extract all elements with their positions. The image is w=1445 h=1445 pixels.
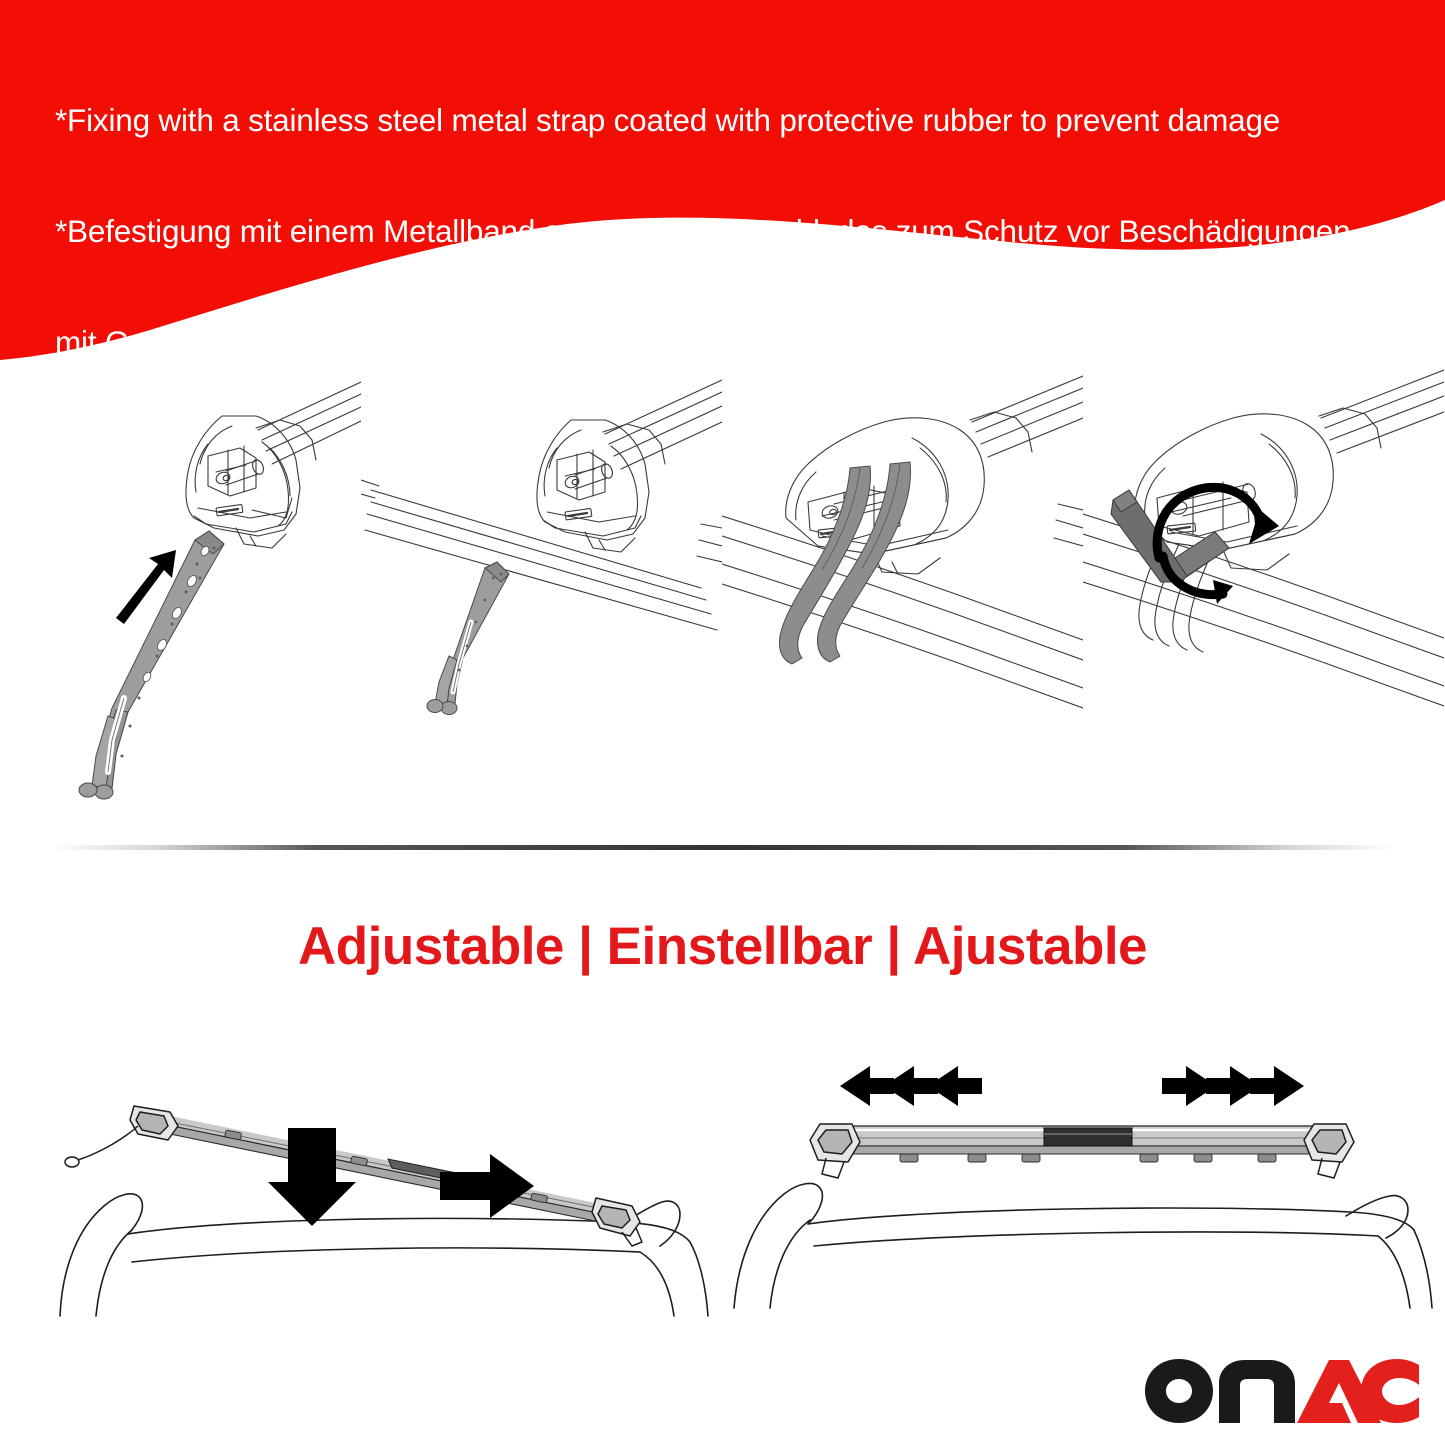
step-2-foot-on-roof-rail: [361, 368, 722, 808]
metal-strap-part: [79, 531, 224, 799]
step-1-insert-strap-into-foot: [0, 368, 361, 808]
crossbar-part: [166, 1114, 612, 1224]
arrow-right-icon: [440, 1154, 534, 1218]
installation-steps-row: [0, 368, 1445, 808]
omac-logo: [1143, 1355, 1421, 1427]
logo-letter-o: [1145, 1359, 1213, 1423]
banner-line-en: *Fixing with a stainless steel metal str…: [55, 102, 1425, 139]
adjustable-diagrams-row: [0, 1030, 1445, 1320]
banner-line-de-2: mit Gummi überzogen ist: [55, 324, 1425, 361]
adjustable-title: Adjustable | Einstellbar | Ajustable: [0, 916, 1445, 977]
step-3-strap-wrapped-around-rail: [722, 368, 1083, 808]
step-4-tighten-with-allen-key: [1083, 368, 1444, 808]
banner-line-de-1: *Befestigung mit einem Metallband aus ro…: [55, 213, 1425, 250]
section-divider: [50, 845, 1395, 850]
triple-arrow-right-icon: [1162, 1066, 1304, 1106]
logo-letter-m: [1219, 1360, 1295, 1423]
crossbar-width-adjust-diagram: [722, 1030, 1444, 1320]
crossbar-placement-diagram: [0, 1030, 722, 1320]
triple-arrow-left-icon: [840, 1066, 982, 1106]
crossbar-part: [840, 1126, 1326, 1162]
